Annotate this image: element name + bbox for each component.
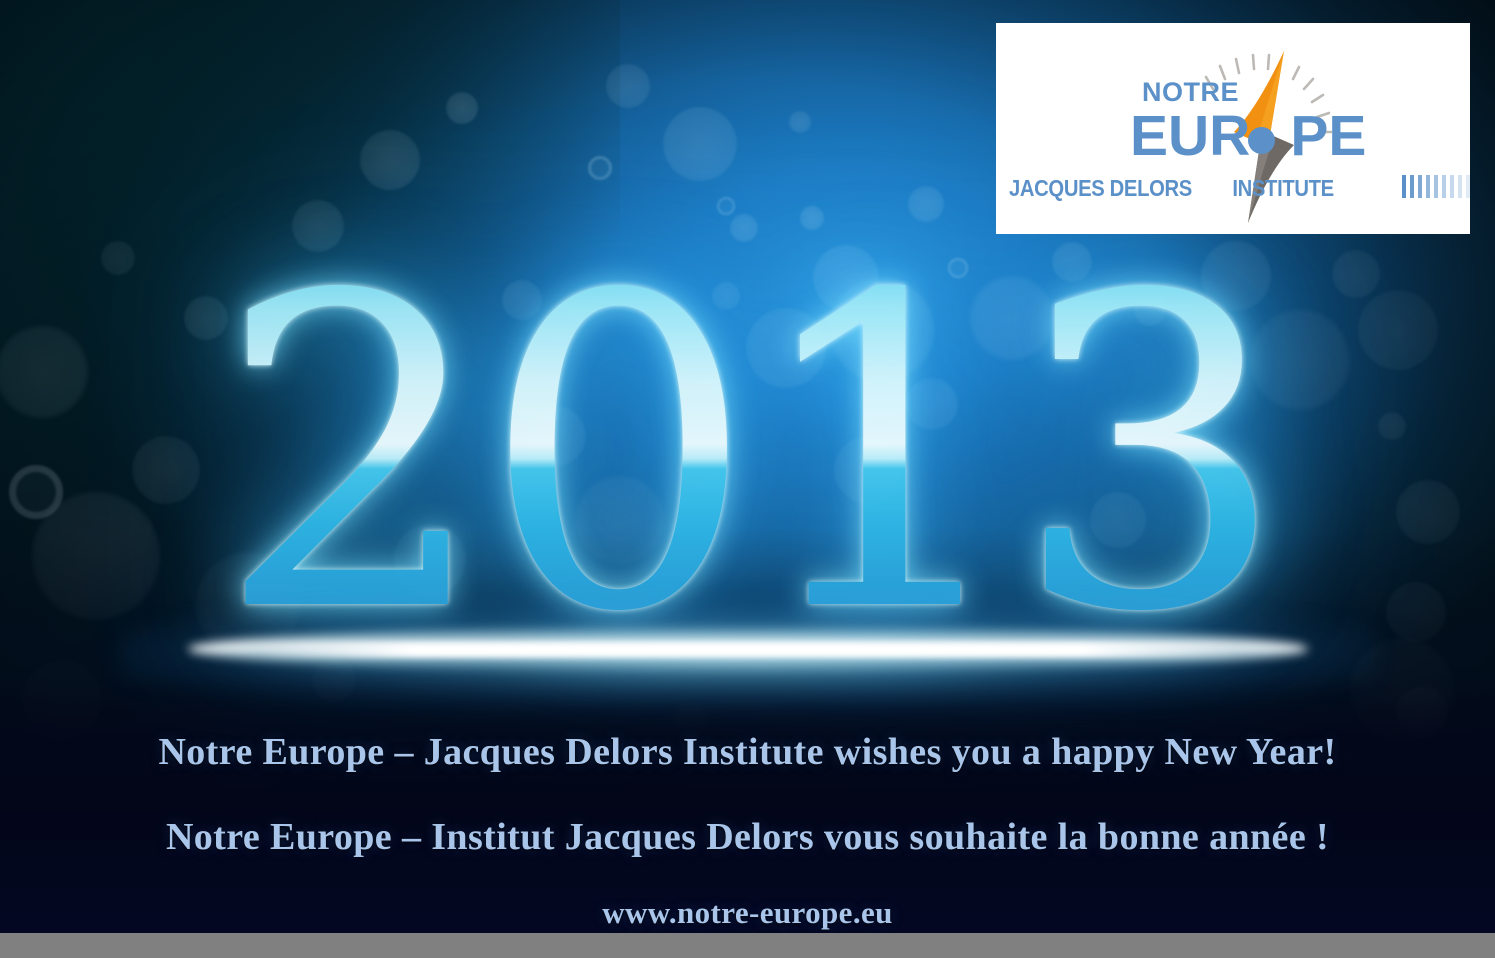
- notre-europe-logo[interactable]: NOTRE EURPE JACQUES DELORSINSTITUTE: [996, 23, 1470, 234]
- new-year-greeting-card: 2013 2013: [0, 0, 1495, 958]
- logo-pe-text: PE: [1290, 104, 1366, 168]
- logo-institute-text: INSTITUTE: [1232, 175, 1333, 201]
- bottom-gray-bar: [0, 933, 1495, 958]
- logo-eur-text: EUR: [1130, 104, 1250, 168]
- website-url[interactable]: www.notre-europe.eu: [0, 895, 1495, 931]
- logo-line-institute: JACQUES DELORSINSTITUTE: [1009, 175, 1334, 202]
- greeting-french: Notre Europe – Institut Jacques Delors v…: [0, 815, 1495, 859]
- compass-dot-icon: [1248, 127, 1275, 154]
- greeting-english: Notre Europe – Jacques Delors Institute …: [0, 730, 1495, 774]
- year-display: 2013: [0, 250, 1495, 670]
- year-text: 2013: [216, 250, 1278, 663]
- background-bottom-dark: [0, 673, 1495, 933]
- logo-jacques-delors-text: JACQUES DELORS: [1009, 175, 1192, 201]
- logo-bars-icon: [1402, 175, 1470, 198]
